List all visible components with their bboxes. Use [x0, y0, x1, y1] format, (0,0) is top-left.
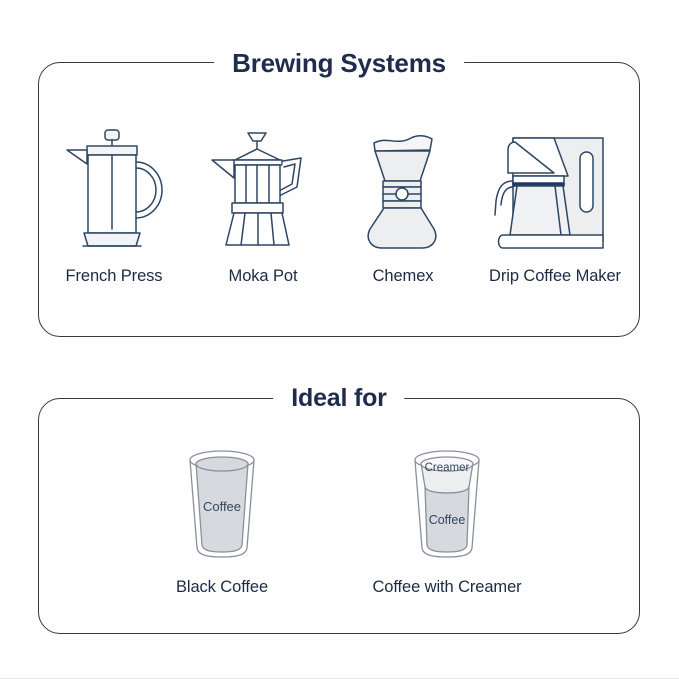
panel-brewing-systems: Brewing Systems — [38, 62, 640, 337]
coffee-cup-with-creamer-icon-box: Creamer Coffee — [395, 437, 499, 562]
item-moka-pot: Moka Pot — [189, 123, 337, 286]
item-label-drip-coffee-maker: Drip Coffee Maker — [489, 267, 621, 286]
item-label-coffee-with-creamer: Coffee with Creamer — [372, 578, 521, 597]
page-title-brewing-systems: Brewing Systems — [214, 48, 464, 79]
moka-pot-icon — [205, 125, 321, 253]
item-french-press: French Press — [39, 123, 189, 286]
page-title-ideal-for: Ideal for — [273, 384, 404, 413]
item-label-moka-pot: Moka Pot — [229, 267, 298, 286]
item-black-coffee: Coffee Black Coffee — [115, 437, 329, 597]
chemex-icon — [353, 125, 453, 253]
french-press-icon — [59, 125, 169, 253]
cup-layer-label-creamer: Creamer — [425, 462, 470, 474]
item-label-black-coffee: Black Coffee — [176, 578, 268, 597]
drip-coffee-maker-icon-box — [491, 123, 619, 253]
chemex-icon-box — [353, 123, 453, 253]
drip-coffee-maker-icon — [491, 125, 619, 253]
cup-layer-label-coffee: Coffee — [429, 513, 466, 527]
french-press-icon-box — [59, 123, 169, 253]
coffee-cup-icon: Coffee — [170, 444, 274, 562]
ideal-items-row: Coffee Black Coffee — [39, 437, 641, 597]
coffee-cup-with-creamer-icon: Creamer Coffee — [395, 444, 499, 562]
panel-ideal-for: Ideal for Coffee — [38, 398, 640, 634]
brewing-items-row: French Press — [39, 123, 641, 286]
infographic-page: Brewing Systems — [0, 0, 679, 679]
item-chemex: Chemex — [337, 123, 469, 286]
coffee-cup-icon-box: Coffee — [170, 437, 274, 562]
item-drip-coffee-maker: Drip Coffee Maker — [469, 123, 641, 286]
item-label-french-press: French Press — [66, 267, 163, 286]
moka-pot-icon-box — [205, 123, 321, 253]
item-label-chemex: Chemex — [373, 267, 434, 286]
item-coffee-with-creamer: Creamer Coffee Coffee with Creamer — [329, 437, 565, 597]
cup-layer-label-coffee: Coffee — [203, 499, 241, 514]
